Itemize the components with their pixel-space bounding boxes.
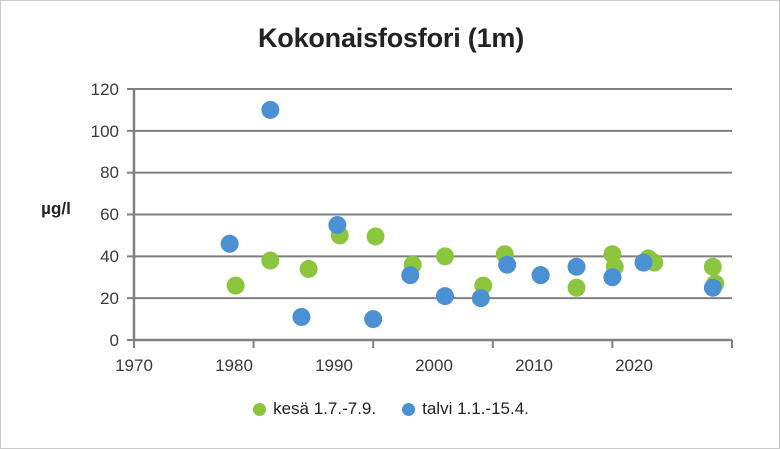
plot-area [1,1,780,449]
chart-container: Kokonaisfosfori (1m) µg/l 120 100 80 60 … [0,0,780,449]
data-point [401,266,419,284]
data-point [704,258,722,276]
data-point [532,266,550,284]
data-point [704,279,722,297]
chart-legend: kesä 1.7.-7.9. talvi 1.1.-15.4. [1,399,780,419]
legend-label-kesa: kesä 1.7.-7.9. [273,399,376,419]
tick-marks [127,89,732,348]
data-point [568,279,586,297]
data-point [472,289,490,307]
legend-label-talvi: talvi 1.1.-15.4. [422,399,529,419]
data-point [436,247,454,265]
data-point [498,256,516,274]
data-point [261,252,279,270]
legend-item-talvi[interactable]: talvi 1.1.-15.4. [402,399,529,419]
gridlines [134,89,732,340]
data-point [261,101,279,119]
data-point [568,258,586,276]
legend-marker-talvi-icon [402,403,415,416]
data-point [367,227,385,245]
data-point [436,287,454,305]
data-point [634,254,652,272]
legend-marker-kesa-icon [253,403,266,416]
data-point [221,235,239,253]
data-point [292,308,310,326]
data-point [364,310,382,328]
legend-item-kesa[interactable]: kesä 1.7.-7.9. [253,399,376,419]
data-point [328,216,346,234]
data-point [300,260,318,278]
data-point [603,268,621,286]
data-point [227,277,245,295]
